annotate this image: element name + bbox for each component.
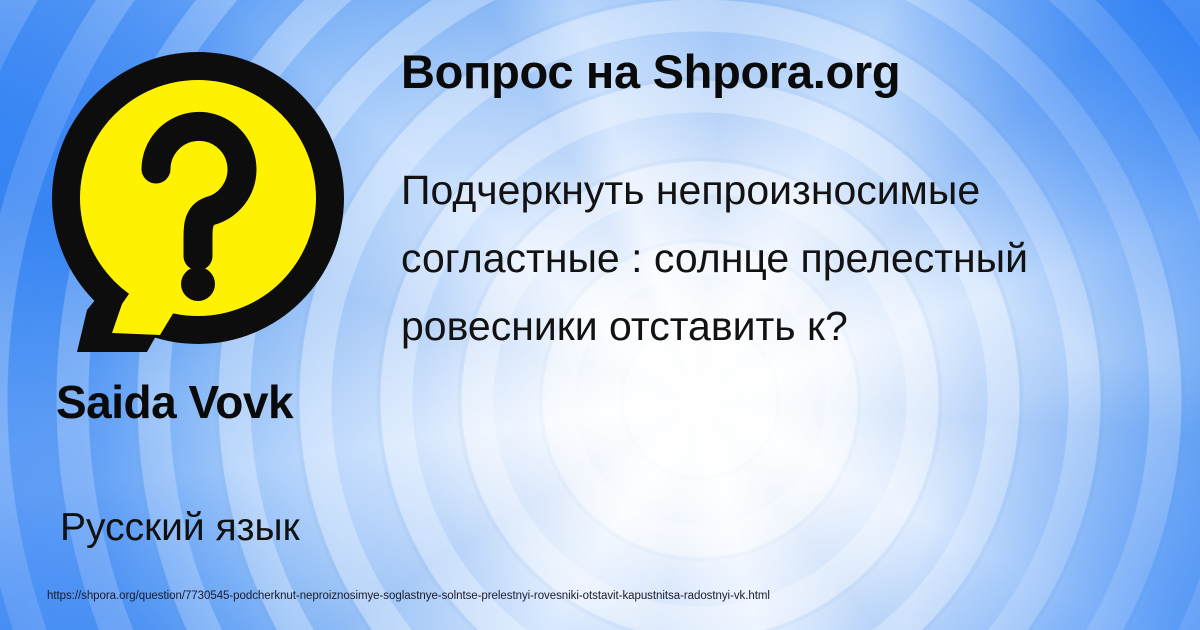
question-speech-bubble-icon bbox=[52, 52, 352, 357]
author-name: Saida Vovk bbox=[56, 375, 386, 430]
subject-label: Русский язык bbox=[60, 505, 400, 551]
share-card: Вопрос на Shpora.org Подчеркнуть непроиз… bbox=[0, 0, 1200, 630]
question-mark-dot bbox=[181, 267, 215, 301]
page-title: Вопрос на Shpora.org bbox=[401, 47, 1181, 98]
question-text: Подчеркнуть непроизносимые согластные : … bbox=[401, 156, 1196, 360]
source-url[interactable]: https://shpora.org/question/7730545-podc… bbox=[47, 590, 770, 602]
